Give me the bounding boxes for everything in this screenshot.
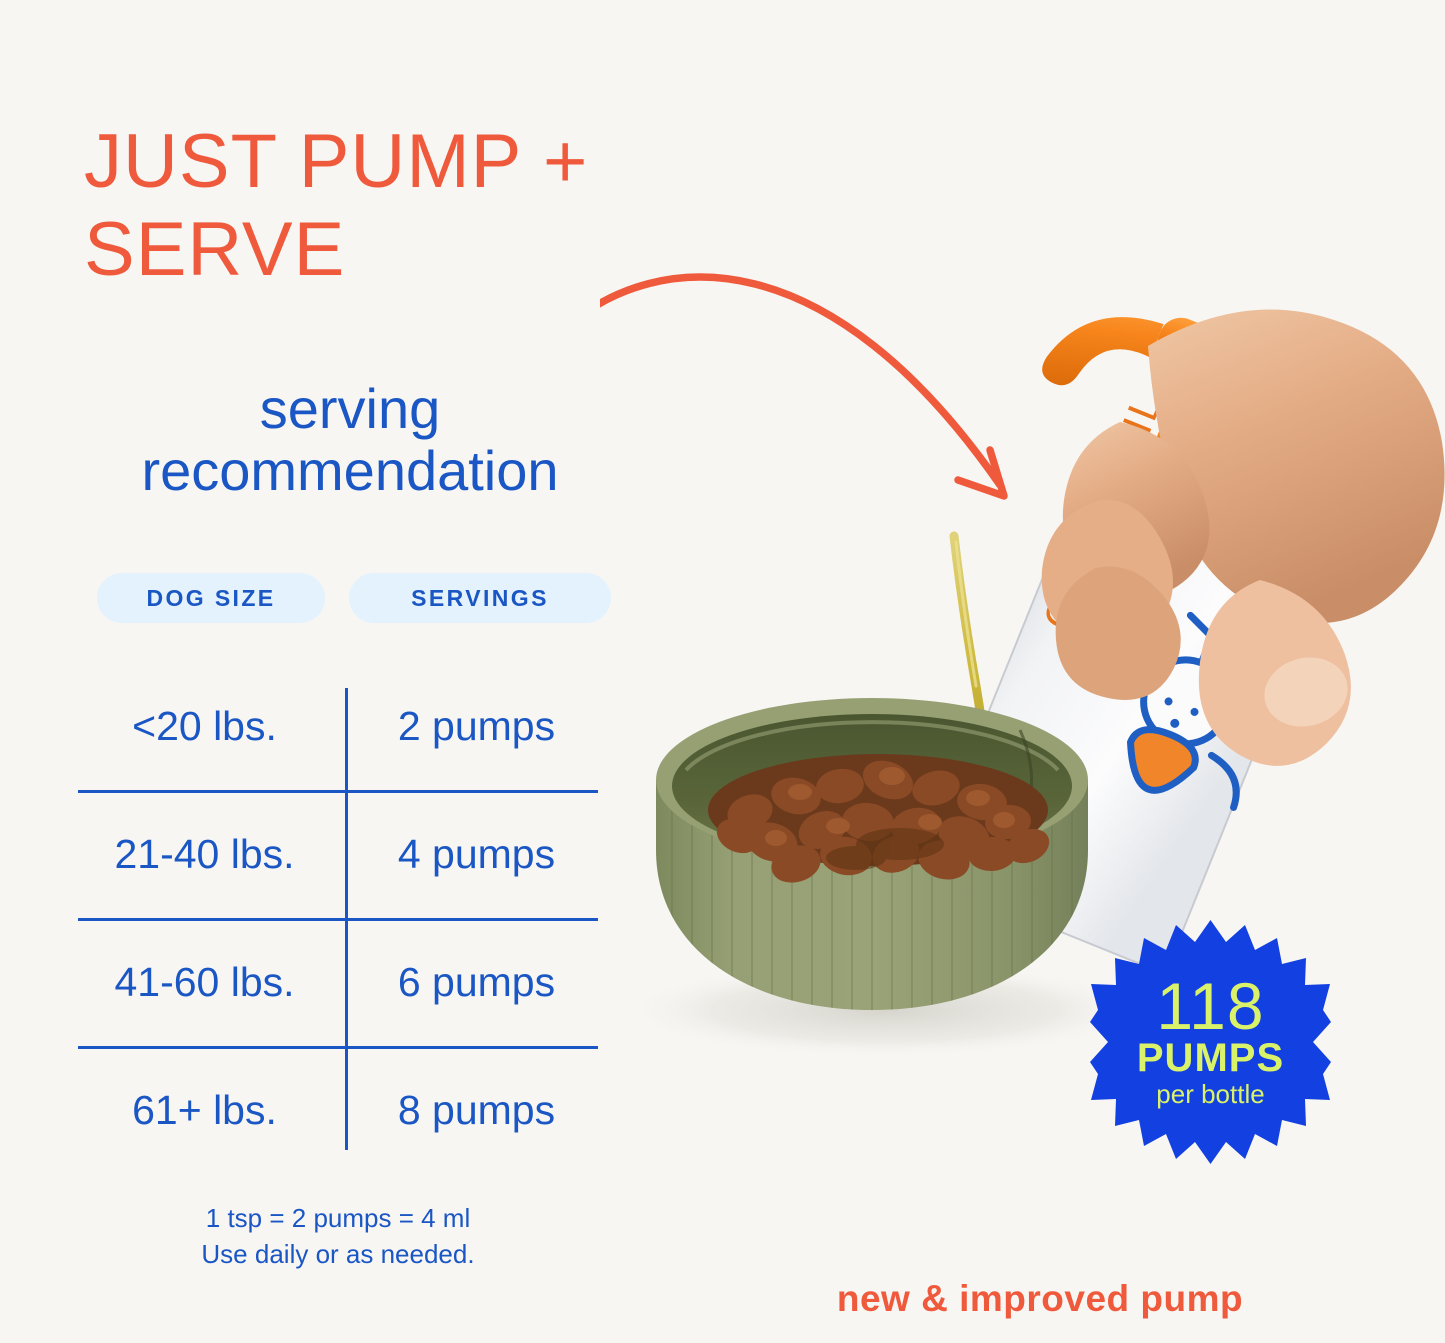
table-header-dog-size: DOG SIZE <box>97 573 325 623</box>
servings-value: 2 pumps <box>345 703 598 750</box>
infographic-page: JUST PUMP + SERVE serving recommendation… <box>0 0 1445 1343</box>
new-improved-pump-caption: new & improved pump <box>700 1278 1380 1320</box>
serving-recommendation-title: serving recommendation <box>55 378 645 502</box>
dog-size-value: <20 lbs. <box>78 703 345 750</box>
table-row: 41-60 lbs. 6 pumps <box>78 918 598 1046</box>
servings-value: 4 pumps <box>345 831 598 878</box>
pumps-per-bottle-badge: 118 PUMPS per bottle <box>1088 918 1333 1166</box>
curved-arrow-icon <box>600 277 1004 496</box>
dog-size-value: 61+ lbs. <box>78 1087 345 1134</box>
table-header-servings: SERVINGS <box>349 573 611 623</box>
serving-table: <20 lbs. 2 pumps 21-40 lbs. 4 pumps 41-6… <box>78 660 598 1172</box>
dosage-footnote: 1 tsp = 2 pumps = 4 ml Use daily or as n… <box>78 1200 598 1272</box>
dog-size-value: 21-40 lbs. <box>78 831 345 878</box>
table-row: 61+ lbs. 8 pumps <box>78 1046 598 1174</box>
servings-value: 8 pumps <box>345 1087 598 1134</box>
servings-value: 6 pumps <box>345 959 598 1006</box>
table-row: 21-40 lbs. 4 pumps <box>78 790 598 918</box>
table-row: <20 lbs. 2 pumps <box>78 662 598 790</box>
dog-size-value: 41-60 lbs. <box>78 959 345 1006</box>
